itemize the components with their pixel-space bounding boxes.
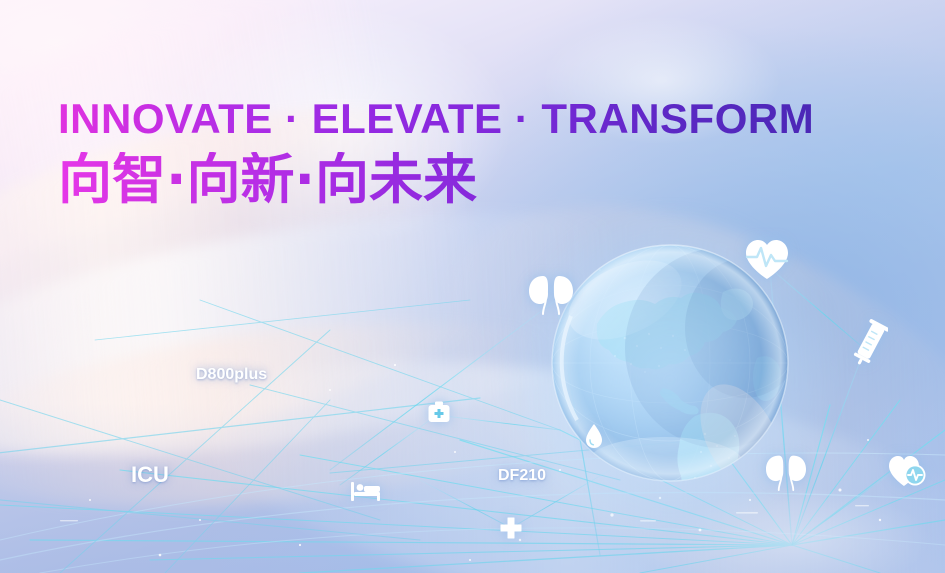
subheadline: 向智·向新·向未来 <box>58 152 814 209</box>
medical-kit-icon <box>427 400 451 429</box>
syringe-icon <box>852 318 888 373</box>
heart-pulse-icon <box>744 239 790 286</box>
product-label-icu: ICU <box>131 462 169 488</box>
hospital-bed-icon <box>350 480 382 507</box>
product-label-d800plus: D800plus <box>196 366 267 384</box>
medical-cross-icon <box>500 517 522 544</box>
heart-monitor-icon <box>888 455 928 494</box>
water-drop-icon <box>584 423 604 454</box>
hero-banner: D800plus ICU DF210 INNOVATE · ELEVATE · … <box>0 0 945 573</box>
kidneys-icon <box>763 452 809 497</box>
kidneys-icon <box>527 272 575 321</box>
hero-text-block: INNOVATE · ELEVATE · TRANSFORM 向智·向新·向未来 <box>58 98 814 209</box>
product-label-df210: DF210 <box>498 467 546 485</box>
headline: INNOVATE · ELEVATE · TRANSFORM <box>58 98 814 140</box>
